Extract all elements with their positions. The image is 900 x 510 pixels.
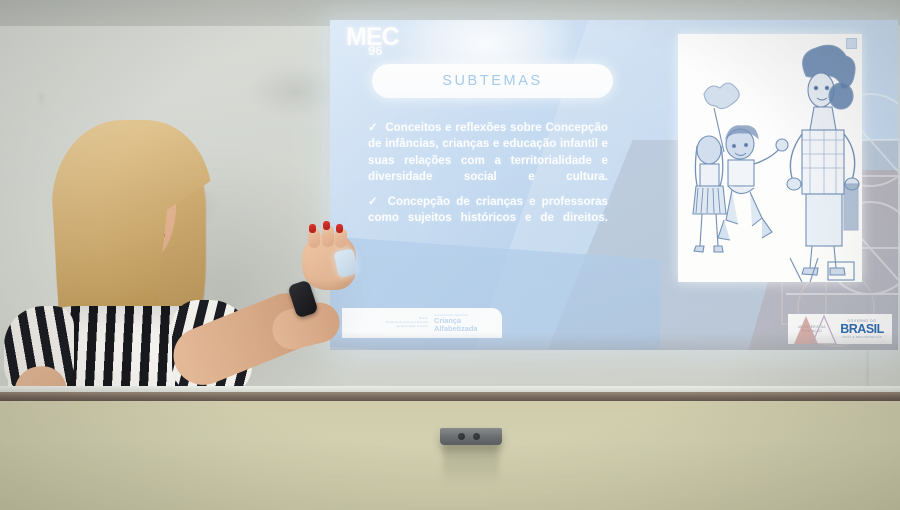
check-icon: ✓: [368, 121, 378, 134]
slide-title-pill: SUBTEMAS: [372, 64, 613, 98]
illustration-teacher-and-children: [678, 34, 862, 282]
slide-bullet-item: ✓Concepção de crianças e professoras com…: [368, 194, 608, 227]
mec-logo: MEC 96: [346, 25, 420, 65]
screenshot-scene: MEC 96 SUBTEMAS ✓Conceitos e reflexões s…: [0, 0, 900, 510]
slide-illustration: [678, 34, 862, 282]
slide-bullet-list: ✓Conceitos e reflexões sobre Concepção d…: [368, 120, 608, 235]
tray-hole: [473, 433, 480, 440]
whiteboard-smudge: [250, 66, 340, 116]
crianca-alfabetizada-logo: Compromisso Nacional Criança Alfabetizad…: [434, 314, 496, 333]
slide-bullet-item: ✓Conceitos e reflexões sobre Concepção d…: [368, 120, 608, 186]
tray-shadow: [443, 444, 499, 486]
slide-bullet-text: Conceitos e reflexões sobre Concepção de…: [368, 121, 608, 183]
slide-bullet-text: Concepção de crianças e professoras como…: [368, 195, 608, 224]
fingernail: [323, 221, 330, 230]
whiteboard-frame-rail: [0, 392, 900, 401]
fingernail: [336, 224, 343, 233]
marker-tray: [440, 428, 502, 445]
slide-bottom-shade: [330, 332, 898, 350]
fingernail: [309, 224, 316, 233]
illustration-corner-mark: [846, 38, 857, 49]
check-icon: ✓: [368, 195, 381, 208]
mec-logo-sub: 96: [368, 44, 420, 57]
projected-slide: MEC 96 SUBTEMAS ✓Conceitos e reflexões s…: [330, 20, 898, 350]
slide-title: SUBTEMAS: [442, 73, 543, 89]
tray-hole: [458, 433, 465, 440]
